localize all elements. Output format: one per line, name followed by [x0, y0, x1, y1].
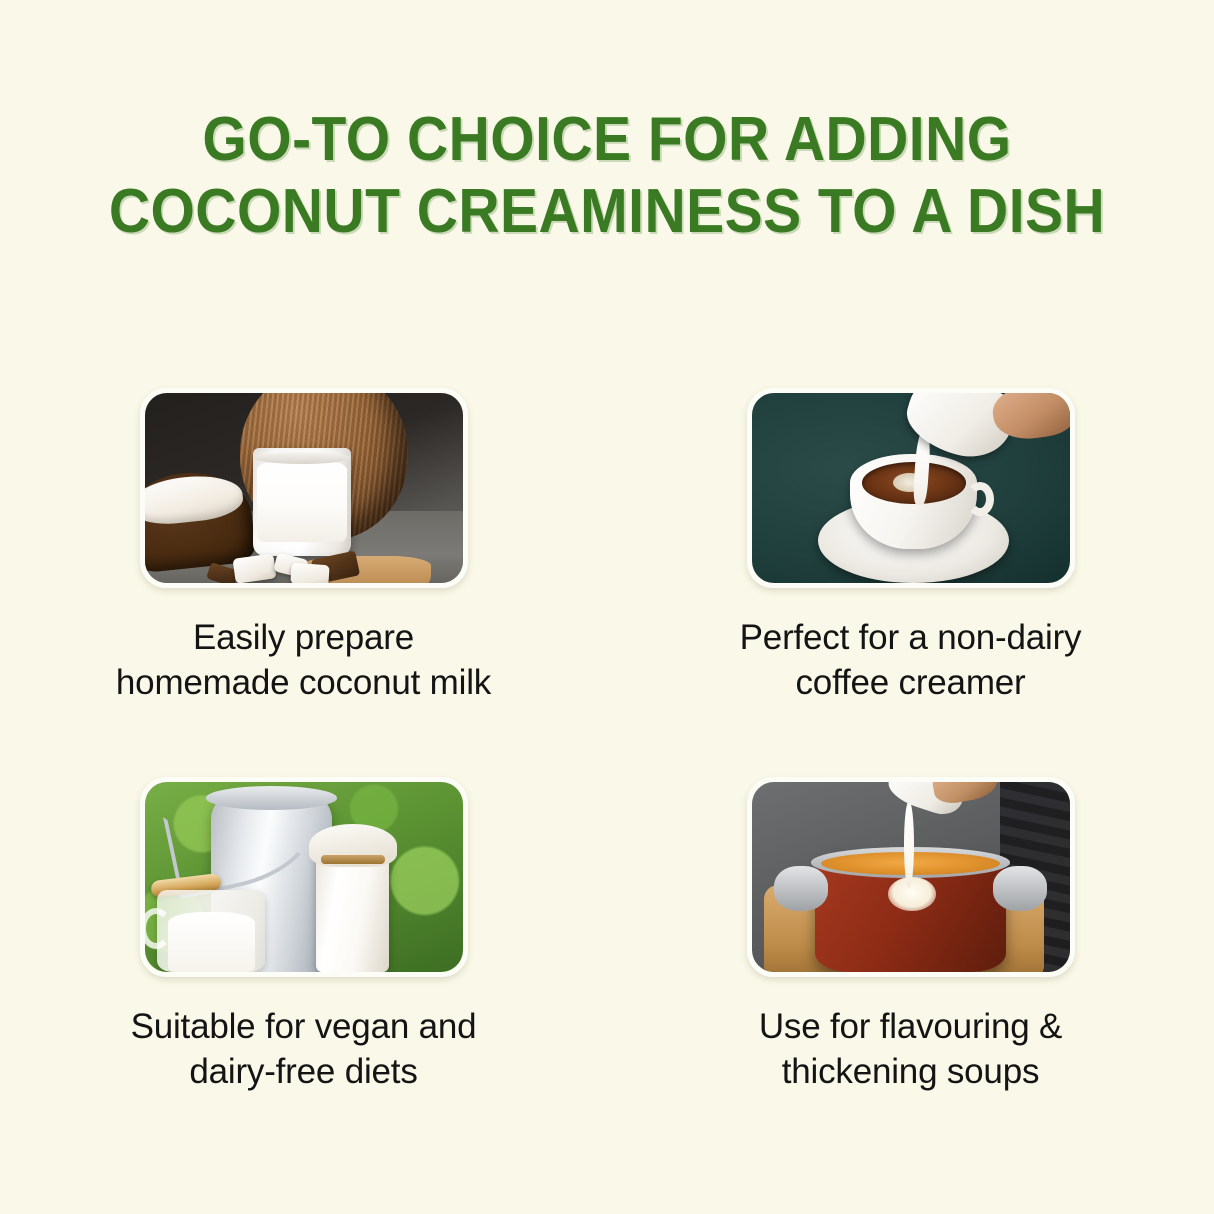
- benefit-card-vegan-dairy-free: Suitable for vegan and dairy-free diets: [0, 777, 607, 1094]
- benefit-caption-4: Use for flavouring & thickening soups: [701, 1004, 1121, 1094]
- benefit-caption-4-line-1: Use for flavouring &: [701, 1004, 1121, 1049]
- benefit-grid: Easily prepare homemade coconut milk: [0, 388, 1214, 1094]
- glass-milk-jug: [157, 890, 265, 972]
- page-title-line-2: COCONUT CREAMINESS TO A DISH: [49, 176, 1166, 248]
- cream-splash: [888, 877, 936, 911]
- promo-graphic: GO-TO CHOICE FOR ADDING COCONUT CREAMINE…: [0, 0, 1214, 1214]
- benefit-image-frame-1: [140, 388, 468, 588]
- coffee-creamer-pour-image: [752, 393, 1070, 583]
- coconut-chunk: [232, 554, 276, 583]
- coconut-chunk: [290, 563, 330, 583]
- benefit-caption-2: Perfect for a non-dairy coffee creamer: [701, 615, 1121, 705]
- benefit-caption-3-line-2: dairy-free diets: [94, 1049, 514, 1094]
- coconut-milk: [257, 458, 348, 542]
- pot-handle-right: [993, 866, 1047, 912]
- benefit-caption-3: Suitable for vegan and dairy-free diets: [94, 1004, 514, 1094]
- soup-cream-pour-image: [752, 782, 1070, 972]
- benefit-caption-1-line-1: Easily prepare: [94, 615, 514, 660]
- bottle-twine: [321, 855, 385, 864]
- benefit-image-frame-4: [747, 777, 1075, 977]
- pot-handle-left: [774, 866, 828, 912]
- coconut-milk-glass-image: [145, 393, 463, 583]
- benefit-caption-2-line-2: coffee creamer: [701, 660, 1121, 705]
- benefit-caption-1-line-2: homemade coconut milk: [94, 660, 514, 705]
- cup-handle: [966, 482, 994, 516]
- milk-bottle: [316, 837, 389, 972]
- page-title-line-1: GO-TO CHOICE FOR ADDING: [49, 104, 1166, 176]
- jug-milk: [168, 912, 254, 972]
- benefit-caption-4-line-2: thickening soups: [701, 1049, 1121, 1094]
- benefit-card-non-dairy-coffee-creamer: Perfect for a non-dairy coffee creamer: [607, 388, 1214, 705]
- benefit-card-flavouring-thickening-soups: Use for flavouring & thickening soups: [607, 777, 1214, 1094]
- benefit-image-frame-3: [140, 777, 468, 977]
- benefit-caption-2-line-1: Perfect for a non-dairy: [701, 615, 1121, 660]
- benefit-image-frame-2: [747, 388, 1075, 588]
- milk-churn-bottle-image: [145, 782, 463, 972]
- benefit-card-homemade-coconut-milk: Easily prepare homemade coconut milk: [0, 388, 607, 705]
- page-title: GO-TO CHOICE FOR ADDING COCONUT CREAMINE…: [49, 104, 1166, 248]
- benefit-caption-3-line-1: Suitable for vegan and: [94, 1004, 514, 1049]
- coconut-flesh: [145, 471, 245, 528]
- milk-glass: [253, 448, 352, 556]
- benefit-caption-1: Easily prepare homemade coconut milk: [94, 615, 514, 705]
